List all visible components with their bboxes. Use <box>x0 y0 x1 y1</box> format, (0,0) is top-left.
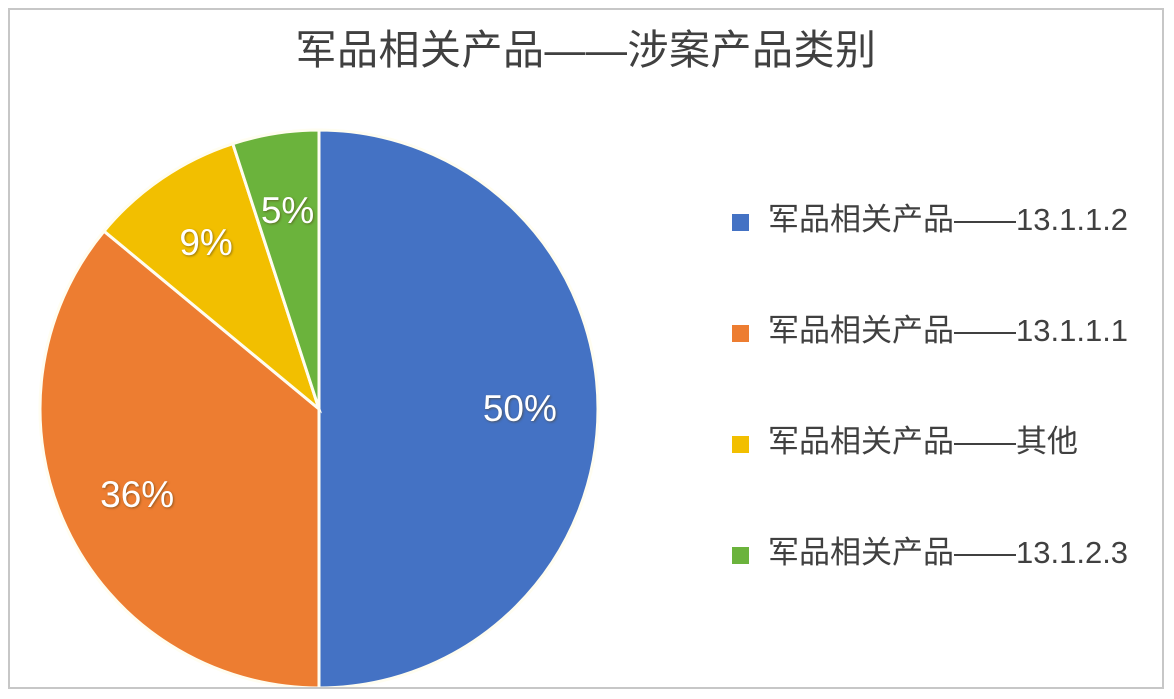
legend-item-label: 军品相关产品——13.1.1.2 <box>768 200 1128 240</box>
legend-item-label: 军品相关产品——13.1.2.3 <box>768 533 1128 573</box>
pie-chart-svg <box>10 10 710 689</box>
chart-legend: 军品相关产品——13.1.1.2军品相关产品——13.1.1.1军品相关产品——… <box>732 200 1152 644</box>
pie-slices-group <box>40 130 598 688</box>
pie-slice[interactable] <box>319 130 598 688</box>
legend-item[interactable]: 军品相关产品——13.1.1.1 <box>732 311 1152 422</box>
legend-swatch-icon <box>732 436 749 453</box>
legend-swatch-icon <box>732 325 749 342</box>
legend-item-label: 军品相关产品——其他 <box>768 422 1078 462</box>
legend-swatch-icon <box>732 214 749 231</box>
legend-swatch-icon <box>732 547 749 564</box>
legend-item[interactable]: 军品相关产品——13.1.1.2 <box>732 200 1152 311</box>
legend-item[interactable]: 军品相关产品——其他 <box>732 422 1152 533</box>
legend-item-label: 军品相关产品——13.1.1.1 <box>768 311 1128 351</box>
chart-frame: 军品相关产品——涉案产品类别 50%36%9%5% 军品相关产品——13.1.1… <box>8 8 1164 689</box>
pie-chart-plot-area[interactable]: 50%36%9%5% <box>10 10 710 689</box>
legend-item[interactable]: 军品相关产品——13.1.2.3 <box>732 533 1152 644</box>
